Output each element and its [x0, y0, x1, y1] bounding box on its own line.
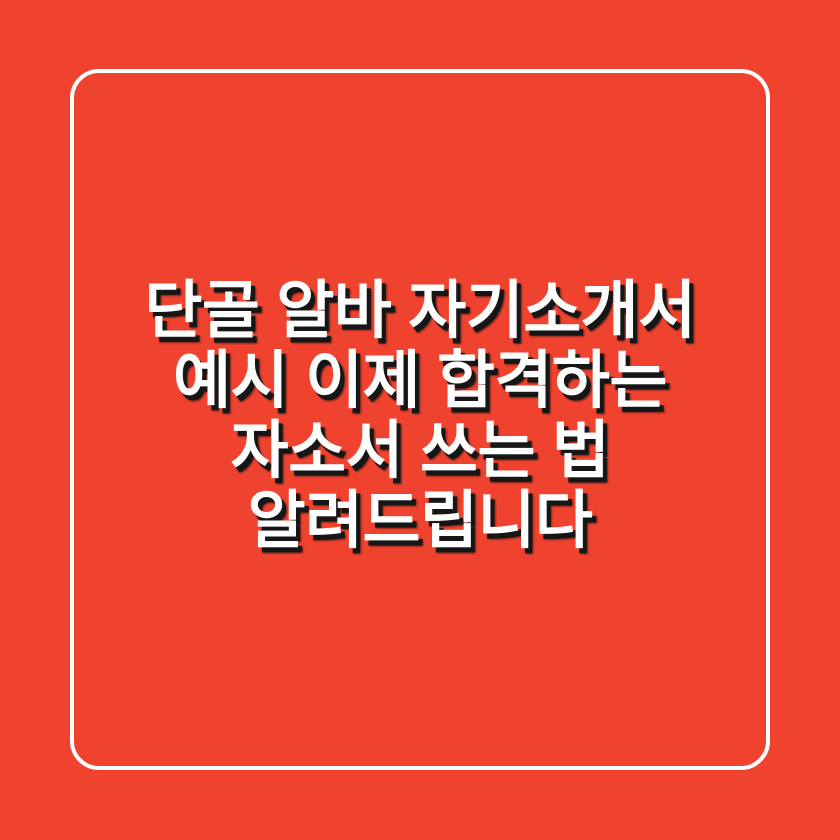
- poster-canvas: 단골 알바 자기소개서 예시 이제 합격하는 자소서 쓰는 법 알려드립니다: [0, 0, 840, 840]
- headline-line-3: 자소서 쓰는 법: [90, 416, 750, 486]
- headline-line-1: 단골 알바 자기소개서: [90, 276, 750, 346]
- headline-line-2: 예시 이제 합격하는: [90, 346, 750, 416]
- headline-text-group: 단골 알바 자기소개서 예시 이제 합격하는 자소서 쓰는 법 알려드립니다: [90, 276, 750, 564]
- headline-line-4: 알려드립니다: [90, 486, 750, 556]
- headline-block: 단골 알바 자기소개서 예시 이제 합격하는 자소서 쓰는 법 알려드립니다: [0, 0, 840, 840]
